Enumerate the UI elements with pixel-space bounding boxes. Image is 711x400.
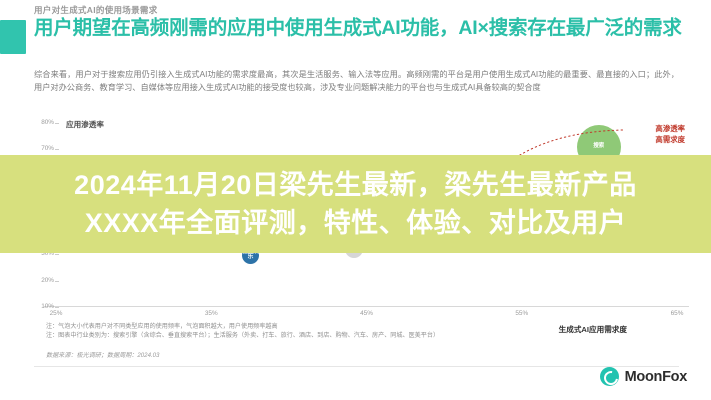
accent-block <box>0 20 26 54</box>
report-slide: 用户对生成式AI的使用场景需求 用户期望在高频刚需的应用中使用生成式AI功能，A… <box>0 0 711 400</box>
x-tick-label: 65% <box>657 310 697 317</box>
y-tick-label: 10% <box>28 303 54 310</box>
footer-divider <box>34 366 679 367</box>
x-tick-label: 35% <box>191 310 231 317</box>
y-tick-label: 70% <box>28 145 54 152</box>
page-title: 用户期望在高频刚需的应用中使用生成式AI功能，AI×搜索存在最广泛的需求 <box>34 17 689 41</box>
brand-name: MoonFox <box>625 369 687 385</box>
source-line: 数据来源：极光调研；数据周期：2024.03 <box>46 350 159 359</box>
y-axis-label: 应用渗透率 <box>66 119 104 130</box>
x-tick-label: 25% <box>36 310 76 317</box>
annotation-line-1: 高渗透率 <box>655 124 685 135</box>
footnote-1: 注：气泡大小代表用户对不同类型应用的使用频率，气泡面积越大，用户使用频率越高 <box>46 322 666 331</box>
moonfox-logo-icon <box>600 367 619 386</box>
summary-paragraph: 综合来看，用户对于搜索应用仍引接入生成式AI功能的需求度最高，其次是生活服务、输… <box>34 68 679 95</box>
overlay-line-2: XXXX年全面评测，特性、体验、对比及用户 <box>16 204 696 242</box>
y-tick-label: 20% <box>28 277 54 284</box>
moonfox-logo: MoonFox <box>600 367 687 386</box>
footnotes: 注：气泡大小代表用户对不同类型应用的使用频率，气泡面积越大，用户使用频率越高 注… <box>46 322 666 341</box>
y-tick-label: 80% <box>28 119 54 126</box>
x-tick-label: 45% <box>347 310 387 317</box>
annotation-line-2: 高需求度 <box>655 135 685 146</box>
x-tick-label: 55% <box>502 310 542 317</box>
kicker-label: 用户对生成式AI的使用场景需求 <box>34 4 158 16</box>
footnote-2: 注：图表中行业类别为：搜索引擎（含综合、垂直搜索平台）；生活服务（外卖、打车、旅… <box>46 331 666 340</box>
overlay-line-1: 2024年11月20日梁先生最新，梁先生最新产品 <box>16 166 696 204</box>
overlay-banner: 2024年11月20日梁先生最新，梁先生最新产品 XXXX年全面评测，特性、体验… <box>0 155 711 253</box>
x-axis-line <box>44 306 689 307</box>
annotation-label: 高渗透率 高需求度 <box>655 124 685 145</box>
